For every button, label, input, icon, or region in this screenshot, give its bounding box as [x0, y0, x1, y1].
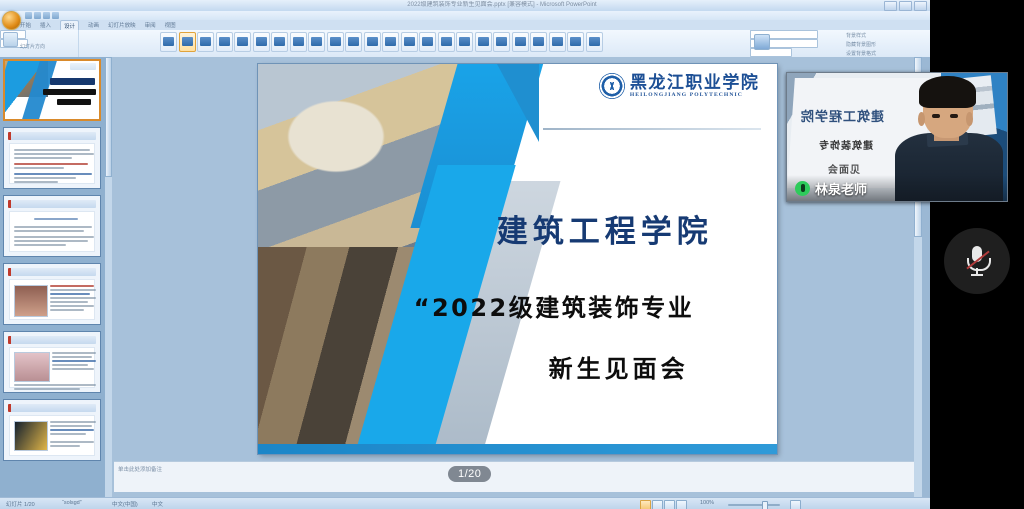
- meeting-screen: 2022级建筑装饰专业新生见面会.pptx [兼容模式] - Microsoft…: [0, 0, 1024, 509]
- thumb-2-heading: [8, 132, 96, 140]
- theme-item-20-icon[interactable]: [512, 32, 529, 52]
- status-spellcheck[interactable]: 中文: [152, 500, 163, 508]
- slide-divider-rule: [543, 128, 761, 130]
- theme-item-13-icon[interactable]: [382, 32, 399, 52]
- slide-thumbnail-6[interactable]: [3, 399, 101, 461]
- school-logo-text: 黑龙江职业学院 HEILONGJIANG POLYTECHNIC: [630, 74, 760, 98]
- slide-counter: 1/20: [448, 466, 491, 482]
- thumb-1-subtitle2-line: [57, 99, 92, 105]
- ribbon-tabs[interactable]: 开始 插入 设计 动画 幻灯片放映 审阅 视图: [20, 20, 176, 30]
- tab-view[interactable]: 视图: [165, 21, 176, 29]
- thumb-2-body: [9, 143, 95, 184]
- thumb-3-body: [9, 211, 95, 252]
- theme-item-12-icon[interactable]: [364, 32, 381, 52]
- customize-qat-icon[interactable]: [52, 12, 59, 19]
- close-button[interactable]: [914, 1, 927, 11]
- tab-home[interactable]: 开始: [20, 21, 31, 29]
- slide-title[interactable]: 建筑工程学院: [497, 206, 713, 251]
- participant-ear-right: [966, 112, 973, 126]
- slide-thumbnail-pane[interactable]: [0, 57, 113, 497]
- current-slide[interactable]: 黑龙江职业学院 HEILONGJIANG POLYTECHNIC 建筑工程学院 …: [258, 64, 777, 454]
- tab-slideshow[interactable]: 幻灯片放映: [108, 21, 136, 29]
- school-logo: 黑龙江职业学院 HEILONGJIANG POLYTECHNIC: [599, 73, 760, 99]
- tab-insert[interactable]: 插入: [40, 21, 51, 29]
- thumb-3-heading: [8, 200, 96, 208]
- office-orb-button[interactable]: [2, 11, 21, 30]
- theme-item-15-icon[interactable]: [419, 32, 436, 52]
- notes-pane[interactable]: 单击此处添加备注: [114, 461, 920, 492]
- thumb-1-subtitle-line: [43, 89, 97, 95]
- background-styles-label: 背景样式: [846, 32, 866, 39]
- slide-canvas: 黑龙江职业学院 HEILONGJIANG POLYTECHNIC 建筑工程学院 …: [258, 64, 777, 454]
- theme-item-6-icon[interactable]: [253, 32, 270, 52]
- mic-toggle-button[interactable]: [944, 228, 1010, 294]
- view-sorter-button[interactable]: [652, 500, 663, 509]
- theme-item-23-icon[interactable]: [567, 32, 584, 52]
- slide-thumbnail-4[interactable]: [3, 263, 101, 325]
- thumb-1-logo: [70, 63, 96, 70]
- status-slide-info: 幻灯片 1/20: [6, 500, 35, 508]
- view-reading-button[interactable]: [664, 500, 675, 509]
- theme-more-icon[interactable]: [586, 32, 603, 52]
- tab-design[interactable]: 设计: [60, 20, 79, 31]
- page-setup-label: 幻灯片方向: [20, 43, 45, 50]
- theme-gallery[interactable]: [160, 31, 603, 52]
- status-theme: “solsgd”: [62, 500, 82, 506]
- ribbon-group-background: 背景样式 隐藏背景图形 设置背景格式: [750, 30, 930, 57]
- projected-line-2: 建筑装饰专: [818, 137, 873, 152]
- slide-subtitle-2[interactable]: 新生见面会: [549, 349, 689, 384]
- projected-title: 建筑工程学院: [800, 106, 884, 125]
- participant-mic-icon: [795, 181, 810, 196]
- undo-icon[interactable]: [34, 12, 41, 19]
- school-name-en: HEILONGJIANG POLYTECHNIC: [630, 92, 760, 98]
- ribbon-body: 幻灯片方向: [0, 30, 930, 58]
- format-background-label[interactable]: 设置背景格式: [846, 50, 876, 57]
- thumb-1-canvas: [5, 61, 99, 119]
- participant-ear-left: [918, 112, 925, 126]
- theme-item-10-icon[interactable]: [327, 32, 344, 52]
- school-name-cn: 黑龙江职业学院: [630, 74, 760, 92]
- window-title: 2022级建筑装饰专业新生见面会.pptx [兼容模式] - Microsoft…: [352, 1, 652, 10]
- tab-animations[interactable]: 动画: [88, 21, 99, 29]
- view-slideshow-button[interactable]: [676, 500, 687, 509]
- thumb-1-title-line: [50, 78, 95, 85]
- thumb-4-canvas: [4, 264, 100, 324]
- participant-eye-right: [950, 114, 958, 118]
- thumb-5-canvas: [4, 332, 100, 392]
- thumb-5-heading: [8, 336, 96, 344]
- thumb-5-body: [9, 347, 95, 388]
- slide-thumbnail-1[interactable]: [3, 59, 101, 121]
- participant-eye-left: [932, 114, 940, 118]
- view-normal-button[interactable]: [640, 500, 651, 509]
- minimize-button[interactable]: [884, 1, 897, 11]
- window-controls[interactable]: [884, 1, 927, 11]
- notes-placeholder: 单击此处添加备注: [118, 465, 162, 473]
- status-bar: 幻灯片 1/20 “solsgd” 中文(中国) 中文 100%: [0, 497, 930, 509]
- theme-item-3-icon[interactable]: [197, 32, 214, 52]
- theme-item-17-icon[interactable]: [456, 32, 473, 52]
- fit-to-window-button[interactable]: [790, 500, 801, 509]
- thumb-3-canvas: [4, 196, 100, 256]
- theme-item-7-icon[interactable]: [271, 32, 288, 52]
- thumb-6-portrait: [14, 421, 48, 451]
- theme-item-9-icon[interactable]: [308, 32, 325, 52]
- tab-review[interactable]: 审阅: [145, 21, 156, 29]
- thumbnail-scrollbar-thumb[interactable]: [105, 57, 112, 177]
- theme-colors-icon[interactable]: [754, 34, 770, 50]
- quick-access-toolbar[interactable]: [0, 11, 930, 20]
- slide-blue-triangle: [497, 64, 539, 142]
- hide-background-graphics-label[interactable]: 隐藏背景图形: [846, 41, 876, 48]
- webcam-pip[interactable]: 建筑工程学院 建筑装饰专 见面会 林泉老师: [786, 72, 1008, 202]
- slide-thumbnail-2[interactable]: [3, 127, 101, 189]
- theme-blank-icon[interactable]: [160, 32, 177, 52]
- ribbon-group-page-setup: 幻灯片方向: [0, 30, 79, 57]
- theme-item-11-icon[interactable]: [345, 32, 362, 52]
- participant-name-bar: 林泉老师: [787, 175, 1007, 201]
- theme-item-21-icon[interactable]: [530, 32, 547, 52]
- thumb-6-body: [9, 415, 95, 456]
- school-logo-mark-icon: [599, 73, 625, 99]
- restore-button[interactable]: [899, 1, 912, 11]
- theme-item-14-icon[interactable]: [401, 32, 418, 52]
- theme-item-8-icon[interactable]: [290, 32, 307, 52]
- save-icon[interactable]: [25, 12, 32, 19]
- zoom-level-label[interactable]: 100%: [700, 500, 714, 506]
- slide-bottom-bar: [258, 444, 777, 454]
- theme-item-16-icon[interactable]: [438, 32, 455, 52]
- thumb-4-heading: [8, 268, 96, 276]
- theme-item-5-icon[interactable]: [234, 32, 251, 52]
- page-setup-icon[interactable]: [3, 32, 18, 47]
- theme-item-19-icon[interactable]: [493, 32, 510, 52]
- microphone-muted-icon: [966, 246, 988, 276]
- redo-icon[interactable]: [43, 12, 50, 19]
- theme-current-icon[interactable]: [179, 32, 196, 52]
- zoom-slider-handle[interactable]: [762, 501, 768, 509]
- thumb-6-canvas: [4, 400, 100, 460]
- theme-item-4-icon[interactable]: [216, 32, 233, 52]
- thumb-6-heading: [8, 404, 96, 412]
- theme-item-18-icon[interactable]: [475, 32, 492, 52]
- slide-thumbnail-3[interactable]: [3, 195, 101, 257]
- thumb-2-canvas: [4, 128, 100, 188]
- thumbnail-scrollbar[interactable]: [105, 57, 112, 497]
- theme-item-22-icon[interactable]: [549, 32, 566, 52]
- slide-thumbnail-list[interactable]: [3, 59, 105, 467]
- slide-subtitle[interactable]: “2022级建筑装饰专业: [414, 288, 695, 323]
- thumb-4-portrait: [14, 285, 48, 317]
- participant-name: 林泉老师: [815, 179, 867, 198]
- thumb-5-portrait: [14, 352, 50, 382]
- slide-thumbnail-5[interactable]: [3, 331, 101, 393]
- participant-hair: [919, 76, 976, 109]
- zoom-slider-track[interactable]: [728, 504, 780, 506]
- thumb-4-body: [9, 279, 95, 320]
- ribbon-group-themes: [78, 30, 751, 57]
- status-language[interactable]: 中文(中国): [112, 500, 138, 508]
